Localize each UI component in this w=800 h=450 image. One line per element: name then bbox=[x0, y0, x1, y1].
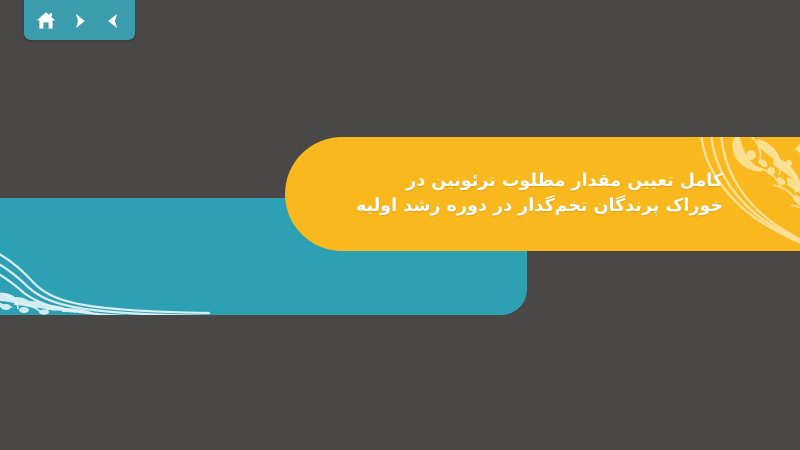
arabesque-ornament bbox=[0, 198, 210, 315]
presentation-navigation-bar[interactable] bbox=[24, 0, 135, 40]
previous-slide-button[interactable] bbox=[100, 8, 126, 34]
slide-canvas: کامل تعیین مقدار مطلوب ترئونین در خوراک … bbox=[0, 0, 800, 450]
slide-title: کامل تعیین مقدار مطلوب ترئونین در خوراک … bbox=[285, 169, 800, 219]
home-icon bbox=[35, 10, 57, 32]
home-slide-button[interactable] bbox=[33, 8, 59, 34]
title-panel: کامل تعیین مقدار مطلوب ترئونین در خوراک … bbox=[285, 137, 800, 251]
forward-triangle-icon bbox=[70, 11, 90, 31]
slide-title-line-2: خوراک پرندگان تخم‌گذار در دوره رشد اولیه bbox=[309, 194, 723, 219]
next-slide-button[interactable] bbox=[67, 8, 93, 34]
back-triangle-icon bbox=[103, 11, 123, 31]
slide-title-line-1: کامل تعیین مقدار مطلوب ترئونین در bbox=[309, 169, 723, 194]
